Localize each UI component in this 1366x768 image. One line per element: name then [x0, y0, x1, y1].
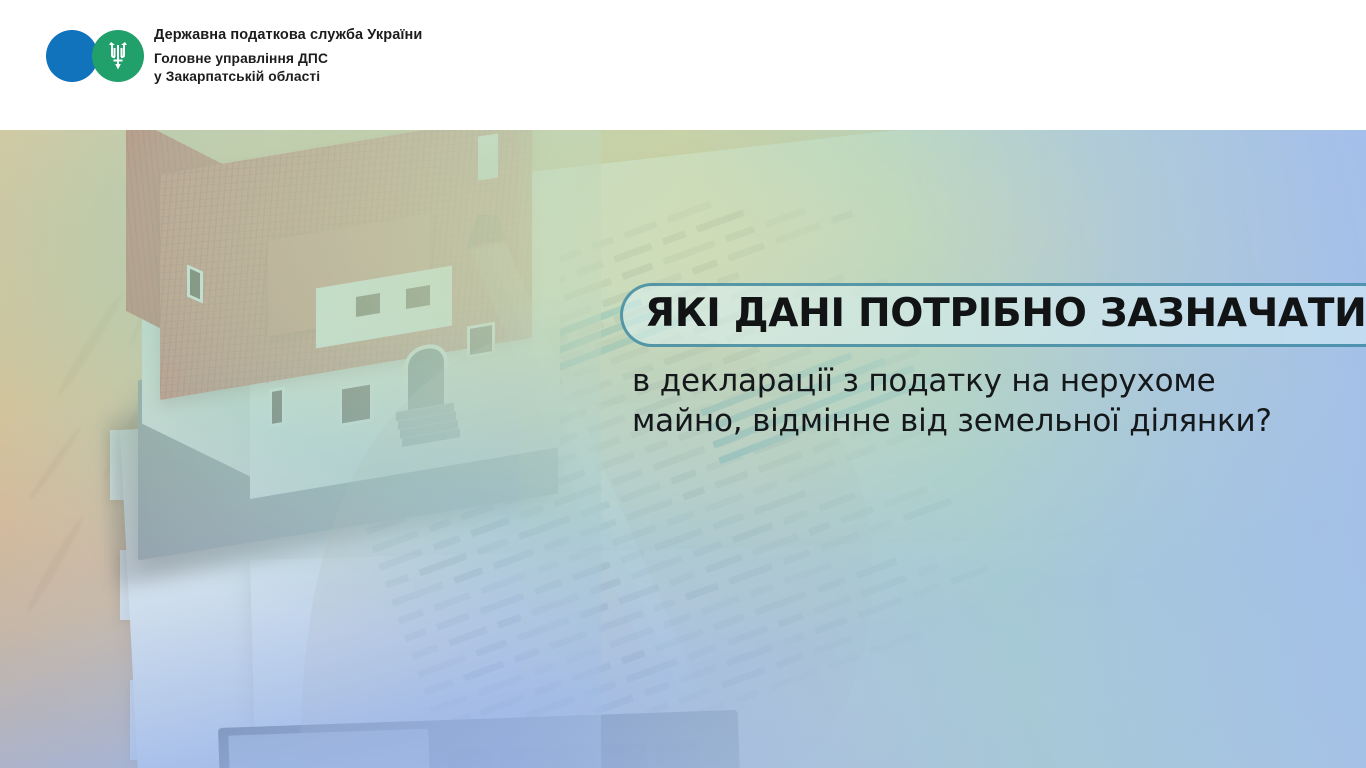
right-gradient-overlay: [519, 130, 1366, 768]
organization-logo[interactable]: Державна податкова служба України Головн…: [46, 26, 422, 85]
org-line-1: Державна податкова служба України: [154, 26, 422, 44]
trident-icon: [107, 42, 129, 70]
banner-subtitle-line-2: майно, відмінне від земельної ділянки?: [632, 401, 1320, 441]
banner-headline: ЯКІ ДАНІ ПОТРІБНО ЗАЗНАЧАТИ: [645, 294, 1366, 333]
org-line-2: Головне управління ДПС: [154, 50, 422, 68]
blue-circle-icon: [46, 30, 98, 82]
headline-pill: ЯКІ ДАНІ ПОТРІБНО ЗАЗНАЧАТИ: [620, 283, 1366, 347]
green-circle-icon: [92, 30, 144, 82]
site-header: Державна податкова служба України Головн…: [0, 0, 1366, 130]
organization-name: Державна податкова служба України Головн…: [154, 26, 422, 85]
hero-photo: [0, 130, 1366, 768]
banner-subtitle-line-1: в декларації з податку на нерухоме: [632, 361, 1320, 401]
org-line-3: у Закарпатській області: [154, 68, 422, 86]
banner-text-block: ЯКІ ДАНІ ПОТРІБНО ЗАЗНАЧАТИ в декларації…: [620, 283, 1320, 442]
banner-stage: ЯКІ ДАНІ ПОТРІБНО ЗАЗНАЧАТИ в декларації…: [0, 0, 1366, 768]
banner-subtitle: в декларації з податку на нерухоме майно…: [632, 361, 1320, 442]
logo-marks: [46, 30, 144, 82]
